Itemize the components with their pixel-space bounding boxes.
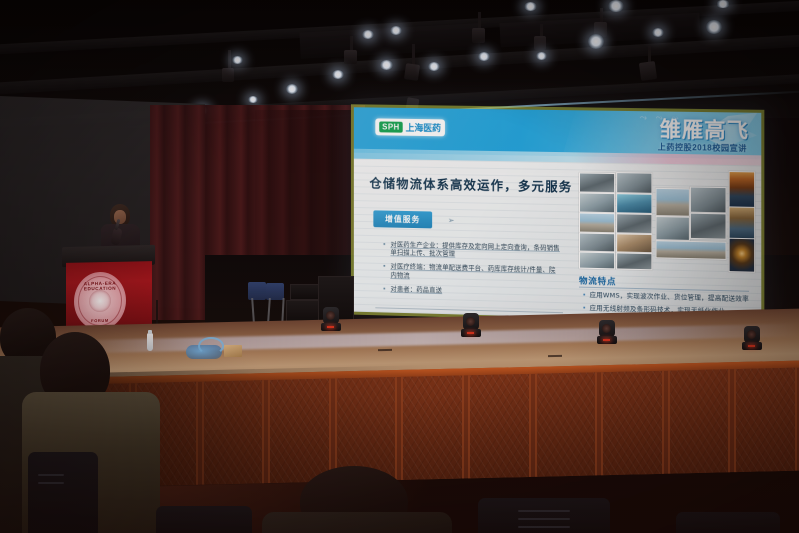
seat-vent — [518, 518, 570, 520]
stage-light-fixture — [344, 50, 357, 64]
slide-header-band: SPH 上海医药 ⤳ ⤳ ⤳ 雏雁高飞 上药控股2018校园宣讲 — [354, 107, 761, 159]
spotlight-glow — [608, 0, 624, 12]
seat-vent — [38, 474, 64, 476]
moving-head-light — [321, 307, 341, 331]
herringbone-panel — [601, 371, 664, 475]
sph-logo-mark: SPH — [379, 121, 402, 132]
bullet-dot-icon: ▪ — [383, 240, 385, 256]
left-bullet-list: ▪ 对医药生产企业：提供库存及定向网上定向查询，条码销售单扫描上传、批次管理 ▪… — [383, 240, 561, 305]
value-added-service-tag: 增值服务 — [373, 210, 432, 228]
light-lens — [326, 311, 335, 320]
collage-photo — [616, 213, 652, 234]
auditorium-seat — [676, 512, 780, 533]
led-indicator — [467, 332, 474, 334]
collage-photo — [655, 240, 726, 260]
led-indicator — [748, 345, 755, 347]
moving-head-light — [742, 326, 762, 350]
light-fixture-arm — [412, 44, 415, 66]
bullet-dot-icon: ▪ — [583, 291, 585, 300]
arrow-icon: ➢ — [448, 216, 455, 225]
moving-head-light — [461, 313, 481, 337]
bullet-dot-icon: ▪ — [383, 285, 385, 295]
floor-socket — [378, 349, 392, 351]
led-indicator — [327, 326, 334, 328]
light-fixture-arm — [228, 50, 231, 70]
spotlight-glow — [380, 60, 393, 70]
spotlight-glow — [588, 34, 604, 49]
stage-light-fixture — [404, 63, 420, 81]
auditorium-seat — [478, 498, 610, 533]
bottle-cap — [148, 330, 152, 334]
spotlight-glow — [362, 30, 374, 39]
herringbone-panel — [535, 372, 598, 476]
spotlight-glow — [524, 2, 537, 11]
spotlight-glow — [536, 52, 547, 60]
collage-photo — [579, 212, 615, 233]
collage-photo — [616, 252, 652, 270]
collage-photo — [616, 172, 652, 194]
collage-photo — [655, 188, 689, 217]
seat-vent — [38, 482, 64, 484]
projected-slide: SPH 上海医药 ⤳ ⤳ ⤳ 雏雁高飞 上药控股2018校园宣讲 仓储物流体系高… — [354, 107, 761, 322]
podium-emblem: ALPHA-ERA EDUCATION FORUM — [74, 271, 126, 330]
collage-photo — [729, 206, 756, 239]
spotlight-glow — [248, 96, 258, 103]
photo-collage — [579, 168, 753, 270]
list-item: ▪ 对医药生产企业：提供库存及定向网上定向查询，条码销售单扫描上传、批次管理 — [383, 240, 561, 260]
slide-title: 仓储物流体系高效运作，多元服务 — [369, 173, 572, 196]
slide-body: 仓储物流体系高效运作，多元服务 增值服务 ➢ ▪ 对医药生产企业：提供库存及定向… — [354, 159, 761, 323]
list-item: ▪ 对患者：药品直送 — [383, 285, 561, 299]
light-lens — [466, 317, 475, 326]
stage-light-fixture — [472, 28, 485, 43]
audience-torso — [262, 512, 452, 533]
stage-light-fixture — [534, 36, 546, 50]
auditorium-seat — [156, 506, 252, 533]
herringbone-panel — [468, 374, 531, 478]
collage-photo — [690, 213, 727, 240]
list-item: ▪ 对医疗终端：物流单配送费平台、药库库存统计/件量、院内物流 — [383, 262, 561, 283]
water-bottle — [147, 333, 153, 351]
cable-loop — [198, 337, 224, 355]
collage-photo — [729, 171, 756, 208]
projection-screen: SPH 上海医药 ⤳ ⤳ ⤳ 雏雁高飞 上药控股2018校园宣讲 仓储物流体系高… — [354, 107, 761, 322]
list-item-text: 对患者：药品直送 — [390, 285, 442, 296]
list-item-text: 对医疗终端：物流单配送费平台、药库库存统计/件量、院内物流 — [390, 263, 561, 283]
equipment-road-case — [290, 284, 320, 300]
spotlight-glow — [286, 84, 298, 94]
bullet-dot-icon: ▪ — [383, 262, 385, 278]
floor-socket — [548, 355, 562, 357]
herringbone-panel — [734, 368, 797, 472]
collage-photo — [655, 216, 689, 241]
spotlight-glow — [716, 0, 730, 8]
auditorium-presentation-photo: SPH 上海医药 ⤳ ⤳ ⤳ 雏雁高飞 上药控股2018校园宣讲 仓储物流体系高… — [0, 0, 799, 533]
spotlight-glow — [478, 52, 490, 61]
banner-subtitle: 上药控股2018校园宣讲 — [658, 142, 747, 155]
spotlight-glow — [332, 70, 344, 79]
spotlight-glow — [390, 26, 402, 35]
led-indicator — [603, 339, 610, 341]
sph-logo: SPH 上海医药 — [375, 118, 445, 136]
spotlight-glow — [652, 28, 664, 37]
seat-vent — [518, 526, 570, 528]
list-item-text: 对医药生产企业：提供库存及定向网上定向查询，条码销售单扫描上传、批次管理 — [390, 240, 561, 260]
collage-photo — [579, 192, 615, 213]
collage-photo — [579, 252, 615, 270]
stage-light-fixture — [639, 61, 657, 81]
collage-photo — [616, 193, 652, 214]
spotlight-glow — [232, 56, 243, 64]
collage-photo — [579, 233, 615, 253]
collage-photo — [729, 238, 756, 273]
bullet-dot-icon: ▪ — [583, 304, 585, 313]
collage-photo — [616, 233, 652, 253]
logistics-features-heading: 物流特点 — [579, 275, 616, 288]
moving-head-light — [597, 320, 617, 344]
auditorium-seat — [28, 452, 98, 533]
collage-photo — [579, 172, 615, 193]
tan-case — [224, 345, 242, 357]
herringbone-panel — [668, 369, 731, 473]
spotlight-glow — [706, 20, 722, 34]
spotlight-glow — [428, 62, 440, 71]
light-lens — [602, 324, 611, 333]
banner-title: 雏雁高飞 — [660, 113, 749, 145]
stage-light-fixture — [222, 68, 234, 82]
seat-vent — [518, 510, 570, 512]
light-lens — [747, 330, 756, 339]
sph-logo-name: 上海医药 — [406, 121, 441, 134]
collage-photo — [690, 186, 727, 213]
